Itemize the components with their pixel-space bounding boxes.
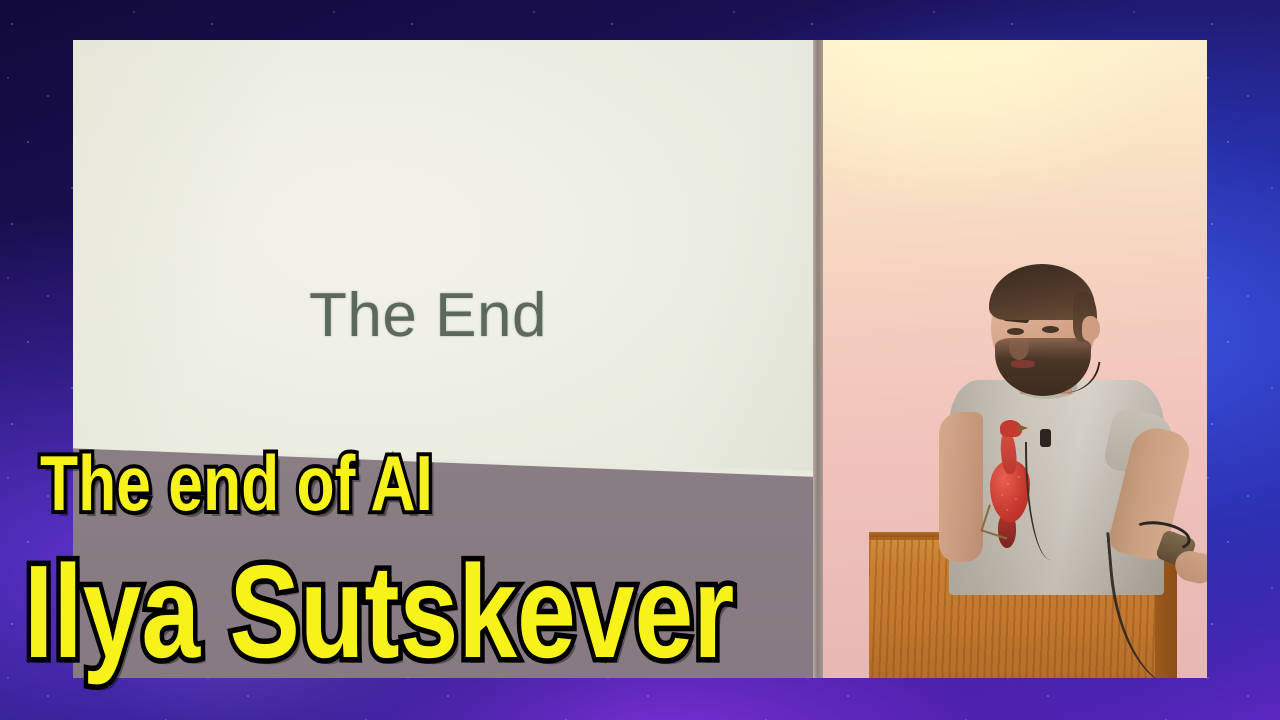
speaker-nose xyxy=(1009,334,1029,360)
speaker-left-eye xyxy=(1007,328,1024,335)
speaker-right-eye xyxy=(1042,326,1059,333)
speaker-ear xyxy=(1082,316,1100,341)
bird-beak xyxy=(1017,424,1028,432)
youtube-thumbnail: The End xyxy=(0,0,1280,720)
caption-line-2: Ilya Sutskever xyxy=(24,546,734,678)
caption-line-1: The end of AI xyxy=(40,444,433,522)
speaker-mouth xyxy=(1011,360,1035,368)
speaker-left-arm xyxy=(939,412,983,562)
